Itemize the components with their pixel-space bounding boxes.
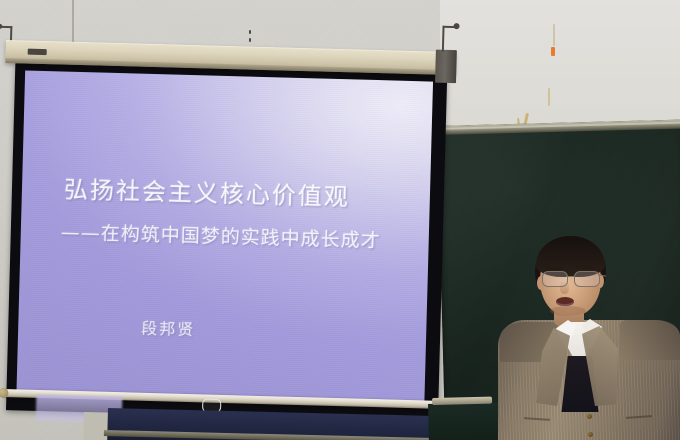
- slide-presenter-name: 段邦贤: [18, 311, 319, 343]
- projection-screen-frame: 弘扬社会主义核心价值观 ——在构筑中国梦的实践中成长成才 段邦贤: [6, 62, 447, 422]
- screen-wall-hook-left: [10, 26, 12, 40]
- wall-scuff-orange: [551, 47, 555, 56]
- screen-roller-endcap-right: [435, 50, 457, 84]
- screen-brand-label: [28, 49, 47, 56]
- glasses-bridge: [566, 276, 574, 277]
- wall-scuff-streak: [553, 24, 555, 46]
- glasses-lens-right: [574, 271, 600, 287]
- presentation-slide: 弘扬社会主义核心价值观 ——在构筑中国梦的实践中成长成才 段邦贤: [16, 71, 433, 406]
- wall-mark-dot: [249, 38, 251, 42]
- wall-mark-dot: [249, 30, 251, 34]
- slide-subtitle: ——在构筑中国梦的实践中成长成才: [21, 216, 422, 254]
- projection-screen-surface: 弘扬社会主义核心价值观 ——在构筑中国梦的实践中成长成才 段邦贤: [16, 71, 433, 406]
- wall-seam-line: [72, 0, 74, 46]
- jacket-button: [587, 414, 592, 419]
- jacket-button: [588, 432, 593, 437]
- speaker-glasses: [538, 271, 604, 286]
- speaker-chin-shadow: [550, 306, 586, 316]
- lecture-hall-photo: 弘扬社会主义核心价值观 ——在构筑中国梦的实践中成长成才 段邦贤: [0, 0, 680, 440]
- speaker-person: [498, 236, 680, 440]
- speaker-mouth: [556, 297, 574, 306]
- speaker-nose: [560, 280, 569, 294]
- speaker-shoulder-right: [620, 320, 680, 360]
- wall-scuff-mark: [548, 88, 550, 106]
- slide-title: 弘扬社会主义核心价值观: [22, 168, 393, 213]
- projector-screen-assembly[interactable]: 弘扬社会主义核心价值观 ——在构筑中国梦的实践中成长成才 段邦贤: [0, 40, 451, 412]
- front-desk-ledge: [432, 397, 492, 405]
